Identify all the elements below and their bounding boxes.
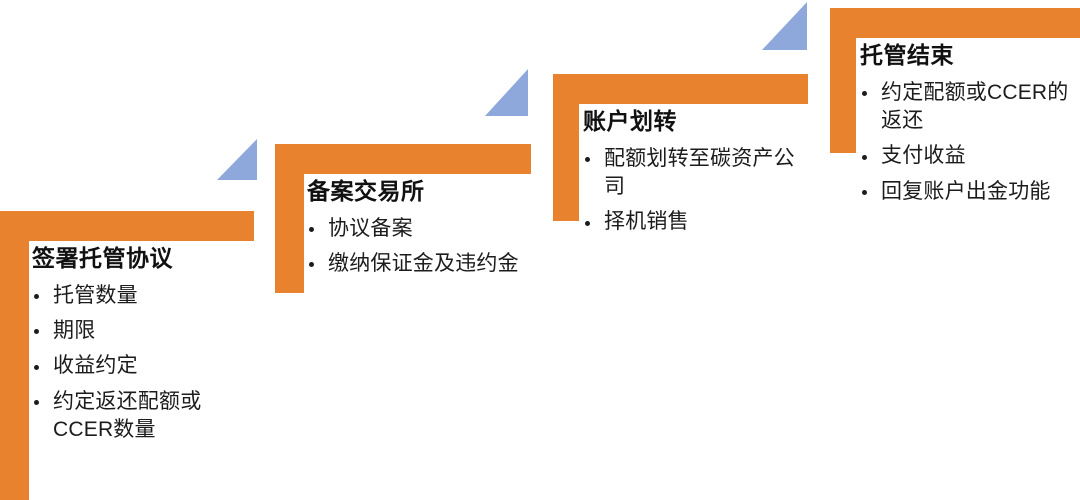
step-4-top-bar — [830, 8, 1080, 38]
bullet-dot-icon — [34, 329, 39, 334]
bullet-dot-icon — [34, 365, 39, 370]
list-item: 约定配额或CCER的返还 — [860, 79, 1070, 135]
list-item-label: 配额划转至碳资产公司 — [604, 147, 795, 198]
ascending-arrow-1-to-2 — [217, 139, 257, 180]
bullet-dot-icon — [309, 227, 314, 232]
step-2-left-bar — [275, 144, 304, 293]
step-3-left-bar — [553, 74, 579, 221]
bullet-dot-icon — [862, 91, 867, 96]
step-2-title: 备案交易所 — [307, 178, 522, 205]
list-item-label: 收益约定 — [53, 354, 138, 377]
list-item-label: 缴纳保证金及违约金 — [328, 252, 519, 275]
list-item-label: 期限 — [53, 319, 95, 342]
step-4-content: 托管结束 约定配额或CCER的返还 支付收益 回复账户出金功能 — [860, 42, 1070, 213]
bullet-dot-icon — [309, 262, 314, 267]
process-step-2: 备案交易所 协议备案 缴纳保证金及违约金 — [275, 144, 531, 293]
list-item: 缴纳保证金及违约金 — [307, 250, 522, 278]
bullet-dot-icon — [862, 190, 867, 195]
list-item: 回复账户出金功能 — [860, 178, 1070, 206]
step-1-left-bar — [0, 211, 29, 500]
process-step-4: 托管结束 约定配额或CCER的返还 支付收益 回复账户出金功能 — [830, 8, 1080, 153]
bullet-dot-icon — [34, 294, 39, 299]
step-3-top-bar — [553, 74, 808, 104]
list-item-label: 择机销售 — [604, 210, 689, 233]
list-item: 配额划转至碳资产公司 — [583, 145, 801, 201]
step-1-content: 签署托管协议 托管数量 期限 收益约定 约定返还配额或CCER数量 — [32, 245, 247, 451]
process-step-3: 账户划转 配额划转至碳资产公司 择机销售 — [553, 74, 808, 221]
list-item: 支付收益 — [860, 142, 1070, 170]
step-1-top-bar — [0, 211, 254, 241]
process-diagram: 签署托管协议 托管数量 期限 收益约定 约定返还配额或CCER数量 备案交易所 … — [0, 0, 1080, 500]
bullet-dot-icon — [862, 155, 867, 160]
list-item: 期限 — [32, 317, 247, 345]
step-4-left-bar — [830, 8, 856, 153]
ascending-arrow-3-to-4 — [762, 2, 807, 50]
bullet-dot-icon — [585, 157, 590, 162]
bullet-dot-icon — [34, 400, 39, 405]
process-step-1: 签署托管协议 托管数量 期限 收益约定 约定返还配额或CCER数量 — [0, 211, 254, 500]
list-item: 择机销售 — [583, 208, 801, 236]
list-item: 协议备案 — [307, 215, 522, 243]
step-2-content: 备案交易所 协议备案 缴纳保证金及违约金 — [307, 178, 522, 285]
list-item: 约定返还配额或CCER数量 — [32, 388, 247, 444]
step-3-title: 账户划转 — [583, 108, 801, 135]
ascending-arrow-2-to-3 — [485, 69, 528, 116]
step-1-bullet-list: 托管数量 期限 收益约定 约定返还配额或CCER数量 — [32, 282, 247, 444]
list-item: 托管数量 — [32, 282, 247, 310]
step-4-title: 托管结束 — [860, 42, 1070, 69]
list-item-label: 回复账户出金功能 — [881, 180, 1051, 203]
step-1-title: 签署托管协议 — [32, 245, 247, 272]
list-item-label: 托管数量 — [53, 284, 138, 307]
bullet-dot-icon — [585, 221, 590, 226]
step-3-bullet-list: 配额划转至碳资产公司 择机销售 — [583, 145, 801, 236]
list-item-label: 协议备案 — [328, 217, 413, 240]
step-2-top-bar — [275, 144, 531, 174]
list-item-label: 约定返还配额或CCER数量 — [53, 390, 201, 441]
list-item-label: 约定配额或CCER的返还 — [881, 81, 1069, 132]
list-item: 收益约定 — [32, 352, 247, 380]
step-4-bullet-list: 约定配额或CCER的返还 支付收益 回复账户出金功能 — [860, 79, 1070, 206]
step-2-bullet-list: 协议备案 缴纳保证金及违约金 — [307, 215, 522, 278]
list-item-label: 支付收益 — [881, 144, 966, 167]
step-3-content: 账户划转 配额划转至碳资产公司 择机销售 — [583, 108, 801, 244]
